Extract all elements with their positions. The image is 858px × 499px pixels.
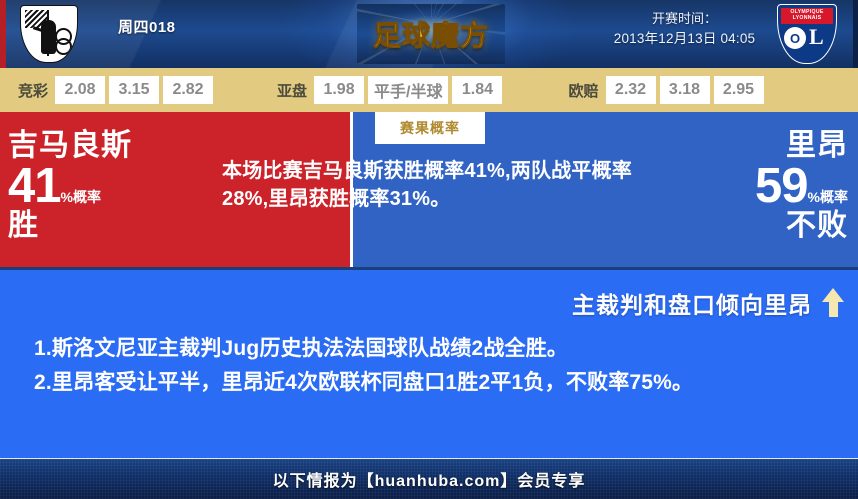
away-crest-letter-l: L	[809, 26, 824, 48]
away-team-name: 里昂	[658, 130, 848, 162]
odds-label-oupei: 欧赔	[568, 80, 598, 101]
away-team-crest-icon: OLYMPIQUE LYONNAIS O L	[777, 4, 837, 64]
list-item: 1.斯洛文尼亚主裁判Jug历史执法法国球队战绩2战全胜。	[34, 332, 834, 366]
footer-text: 以下情报为【huanhuba.com】会员专享	[273, 467, 586, 491]
odds-group-oupei: 欧赔 2.32 3.18 2.95	[568, 76, 767, 104]
insight-headline: 主裁判和盘口倾向里昂	[572, 286, 812, 320]
header-bar: 周四018 足球魔方 开赛时间： 2013年12月13日 04:05 OLYMP…	[0, 0, 858, 68]
away-crest-line2: LYONNAIS	[793, 16, 822, 22]
kickoff-value: 2013年12月13日 04:05	[597, 29, 772, 50]
home-probability-value: 41	[8, 159, 61, 213]
home-outcome-label: 胜	[8, 210, 168, 242]
odds-group-yapan: 亚盘 1.98 平手/半球 1.84	[277, 76, 506, 104]
header-right-accent	[853, 0, 858, 68]
odds-value[interactable]: 2.95	[714, 76, 764, 104]
away-probability-value: 59	[755, 159, 808, 213]
insight-panel: 主裁判和盘口倾向里昂 1.斯洛文尼亚主裁判Jug历史执法法国球队战绩2战全胜。 …	[0, 270, 858, 458]
away-outcome-label: 不败	[658, 210, 848, 242]
match-number: 周四018	[118, 16, 176, 37]
home-probability-unit: %概率	[61, 189, 101, 205]
kickoff-time-block: 开赛时间： 2013年12月13日 04:05	[597, 9, 772, 50]
handicap-value[interactable]: 平手/半球	[368, 76, 448, 104]
odds-value[interactable]: 2.08	[55, 76, 105, 104]
site-logo[interactable]: 足球魔方	[357, 4, 505, 64]
home-probability-summary: 吉马良斯 41%概率 胜	[8, 130, 168, 241]
odds-group-jingcai: 竞彩 2.08 3.15 2.82	[18, 76, 217, 104]
list-item: 2.里昂客受让平半，里昂近4次欧联杯同盘口1胜2平1负，不败率75%。	[34, 366, 834, 400]
away-crest-lion-icon: O	[784, 27, 806, 49]
home-team-crest-icon	[20, 5, 78, 63]
odds-bar: 竞彩 2.08 3.15 2.82 亚盘 1.98 平手/半球 1.84 欧赔 …	[0, 68, 858, 112]
odds-value[interactable]: 3.15	[109, 76, 159, 104]
odds-value[interactable]: 1.84	[452, 76, 502, 104]
odds-label-jingcai: 竞彩	[18, 80, 48, 101]
odds-value[interactable]: 1.98	[314, 76, 364, 104]
up-arrow-icon	[822, 288, 844, 318]
home-team-name: 吉马良斯	[8, 130, 168, 162]
site-logo-text: 足球魔方	[373, 14, 489, 54]
odds-value[interactable]: 3.18	[660, 76, 710, 104]
odds-label-yapan: 亚盘	[277, 80, 307, 101]
insight-list: 1.斯洛文尼亚主裁判Jug历史执法法国球队战绩2战全胜。 2.里昂客受让平半，里…	[34, 332, 834, 400]
odds-value[interactable]: 2.82	[163, 76, 213, 104]
probability-summary-text: 本场比赛吉马良斯获胜概率41%,两队战平概率28%,里昂获胜概率31%。	[222, 157, 642, 214]
kickoff-label: 开赛时间：	[597, 9, 772, 29]
header-left-accent	[0, 0, 6, 68]
insight-headline-row: 主裁判和盘口倾向里昂	[572, 286, 844, 320]
away-probability-unit: %概率	[808, 189, 848, 205]
footer-bar: 以下情报为【huanhuba.com】会员专享	[0, 458, 858, 499]
tab-result-probability[interactable]: 赛果概率	[375, 112, 485, 144]
probability-panel: 赛果概率 吉马良斯 41%概率 胜 本场比赛吉马良斯获胜概率41%,两队战平概率…	[0, 112, 858, 267]
match-analysis-card: 周四018 足球魔方 开赛时间： 2013年12月13日 04:05 OLYMP…	[0, 0, 858, 498]
away-probability-summary: 里昂 59%概率 不败	[658, 130, 848, 241]
odds-value[interactable]: 2.32	[606, 76, 656, 104]
